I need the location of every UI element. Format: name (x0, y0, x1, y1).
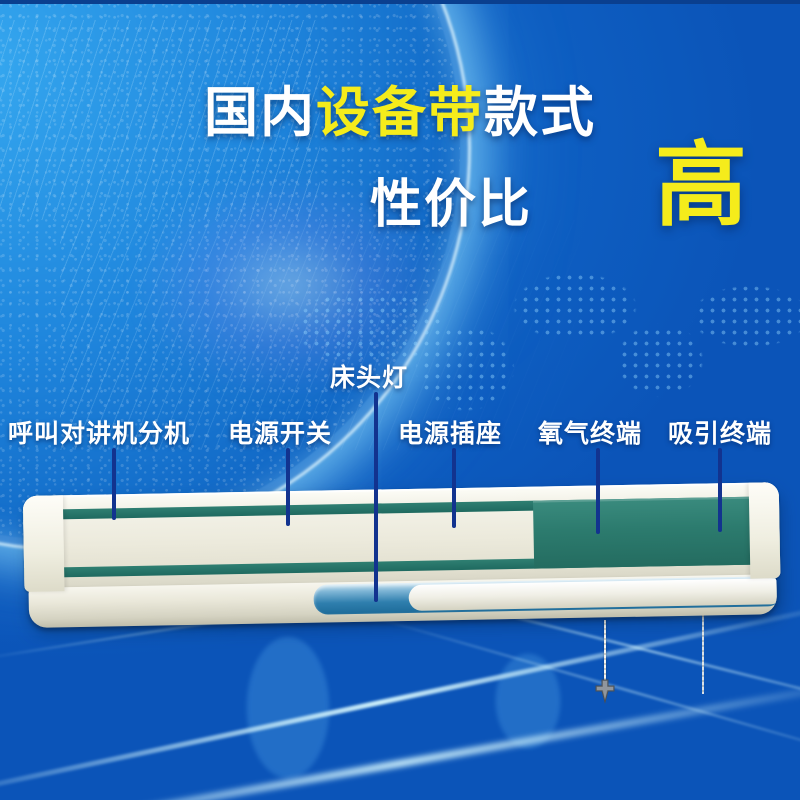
leader-line-bed-lamp (374, 392, 378, 602)
callout-layer: 呼叫对讲机分机 电源开关 床头灯 电源插座 氧气终端 吸引终端 (0, 0, 800, 800)
leader-line-power-switch (286, 448, 290, 526)
callout-suction-terminal: 吸引终端 (668, 414, 772, 450)
leader-line-oxygen-terminal (596, 448, 600, 534)
top-edge-bar (0, 0, 800, 4)
leader-line-suction-terminal (718, 448, 722, 532)
callout-power-switch: 电源开关 (228, 414, 332, 450)
callout-bed-lamp: 床头灯 (330, 358, 408, 394)
callout-intercom: 呼叫对讲机分机 (8, 414, 190, 450)
leader-line-power-socket (452, 448, 456, 528)
callout-power-socket: 电源插座 (398, 414, 502, 450)
leader-line-intercom (112, 448, 116, 520)
poster-canvas: 国内设备带款式 性价比 高 呼叫对讲机分机 电源开关 床头灯 电源插座 氧气终端… (0, 0, 800, 800)
callout-oxygen-terminal: 氧气终端 (538, 414, 642, 450)
